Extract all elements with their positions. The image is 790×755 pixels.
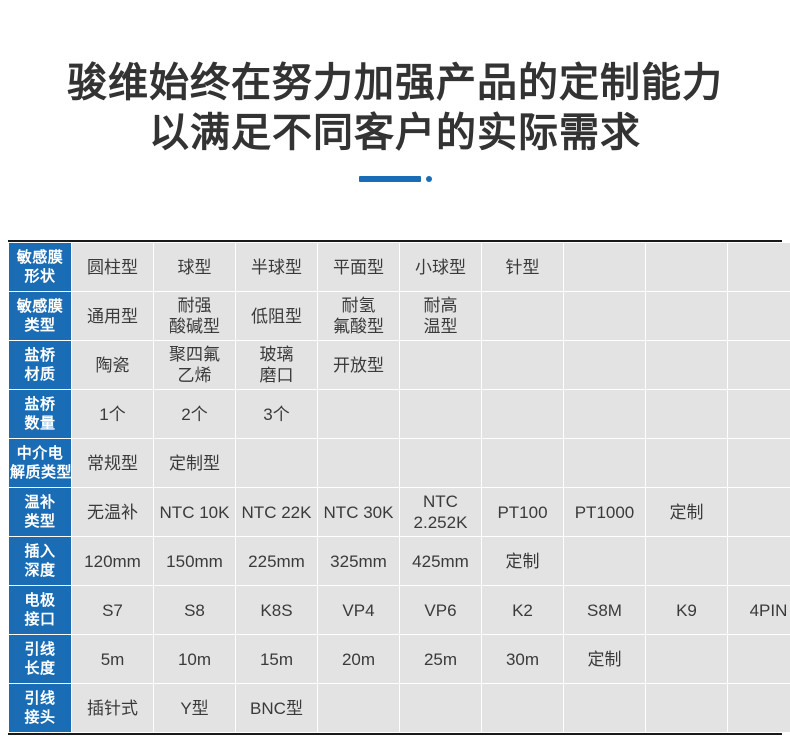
table-cell[interactable]: 常规型 bbox=[72, 439, 153, 487]
table-cell-empty bbox=[564, 439, 645, 487]
table-cell[interactable]: 150mm bbox=[154, 537, 235, 585]
table-cell-empty bbox=[728, 390, 790, 438]
table-cell[interactable]: 球型 bbox=[154, 243, 235, 291]
table-cell-empty bbox=[728, 439, 790, 487]
row-header-4: 中介电解质类型 bbox=[9, 439, 71, 487]
table-cell[interactable]: 20m bbox=[318, 635, 399, 683]
table-cell[interactable]: 425mm bbox=[400, 537, 481, 585]
table-cell-empty bbox=[728, 488, 790, 536]
table-cell-empty bbox=[646, 635, 727, 683]
row-header-9: 引线接头 bbox=[9, 684, 71, 732]
table-cell-empty bbox=[318, 439, 399, 487]
table-row: 引线接头插针式Y型BNC型 bbox=[9, 684, 790, 732]
table-cell[interactable]: 3个 bbox=[236, 390, 317, 438]
table-cell[interactable]: VP6 bbox=[400, 586, 481, 634]
table-cell-empty bbox=[482, 341, 563, 389]
table-cell[interactable]: 10m bbox=[154, 635, 235, 683]
table-cell-empty bbox=[318, 390, 399, 438]
table-cell[interactable]: 耐高温型 bbox=[400, 292, 481, 340]
table-cell[interactable]: 30m bbox=[482, 635, 563, 683]
table-cell[interactable]: PT1000 bbox=[564, 488, 645, 536]
heading-block: 骏维始终在努力加强产品的定制能力 以满足不同客户的实际需求 bbox=[0, 0, 790, 184]
table-cell[interactable]: 120mm bbox=[72, 537, 153, 585]
table-cell[interactable]: 定制 bbox=[482, 537, 563, 585]
table-cell[interactable]: VP4 bbox=[318, 586, 399, 634]
table-cell-empty bbox=[400, 439, 481, 487]
table-row: 敏感膜形状圆柱型球型半球型平面型小球型针型 bbox=[9, 243, 790, 291]
table-cell[interactable]: 聚四氟乙烯 bbox=[154, 341, 235, 389]
table-cell-empty bbox=[482, 684, 563, 732]
spec-table-wrapper: 敏感膜形状圆柱型球型半球型平面型小球型针型敏感膜类型通用型耐强酸碱型低阻型耐氢氟… bbox=[8, 240, 782, 735]
table-cell-empty bbox=[400, 684, 481, 732]
table-cell[interactable]: 陶瓷 bbox=[72, 341, 153, 389]
table-cell[interactable]: 1个 bbox=[72, 390, 153, 438]
table-cell[interactable]: 4PIN bbox=[728, 586, 790, 634]
row-header-5: 温补类型 bbox=[9, 488, 71, 536]
table-cell[interactable]: PT100 bbox=[482, 488, 563, 536]
table-cell[interactable]: 插针式 bbox=[72, 684, 153, 732]
table-cell[interactable]: 半球型 bbox=[236, 243, 317, 291]
table-cell[interactable]: K9 bbox=[646, 586, 727, 634]
accent-dot bbox=[426, 176, 432, 182]
table-cell[interactable]: 325mm bbox=[318, 537, 399, 585]
table-cell[interactable]: 定制 bbox=[564, 635, 645, 683]
table-cell-empty bbox=[646, 292, 727, 340]
table-cell[interactable]: 针型 bbox=[482, 243, 563, 291]
row-header-2: 盐桥材质 bbox=[9, 341, 71, 389]
table-row: 敏感膜类型通用型耐强酸碱型低阻型耐氢氟酸型耐高温型 bbox=[9, 292, 790, 340]
table-cell-empty bbox=[646, 537, 727, 585]
table-cell[interactable]: K2 bbox=[482, 586, 563, 634]
row-header-1: 敏感膜类型 bbox=[9, 292, 71, 340]
table-cell[interactable]: K8S bbox=[236, 586, 317, 634]
table-cell[interactable]: S8 bbox=[154, 586, 235, 634]
table-cell-empty bbox=[564, 390, 645, 438]
table-cell-empty bbox=[646, 684, 727, 732]
table-cell-empty bbox=[728, 537, 790, 585]
table-cell[interactable]: 耐强酸碱型 bbox=[154, 292, 235, 340]
table-cell-empty bbox=[318, 684, 399, 732]
table-cell-empty bbox=[564, 684, 645, 732]
table-cell-empty bbox=[728, 635, 790, 683]
table-cell-empty bbox=[482, 292, 563, 340]
row-header-3: 盐桥数量 bbox=[9, 390, 71, 438]
table-cell[interactable]: 低阻型 bbox=[236, 292, 317, 340]
heading-line-2: 以满足不同客户的实际需求 bbox=[0, 108, 790, 158]
table-cell-empty bbox=[646, 243, 727, 291]
table-cell[interactable]: NTC 30K bbox=[318, 488, 399, 536]
table-cell[interactable]: 玻璃磨口 bbox=[236, 341, 317, 389]
table-cell-empty bbox=[482, 439, 563, 487]
table-cell[interactable]: Y型 bbox=[154, 684, 235, 732]
table-row: 盐桥数量1个2个3个 bbox=[9, 390, 790, 438]
table-cell-empty bbox=[728, 341, 790, 389]
table-cell[interactable]: 定制型 bbox=[154, 439, 235, 487]
table-cell[interactable]: S7 bbox=[72, 586, 153, 634]
table-cell-empty bbox=[646, 341, 727, 389]
table-cell-empty bbox=[400, 341, 481, 389]
heading-line-1: 骏维始终在努力加强产品的定制能力 bbox=[0, 58, 790, 108]
table-cell-empty bbox=[728, 292, 790, 340]
table-cell[interactable]: NTC 10K bbox=[154, 488, 235, 536]
table-cell[interactable]: 225mm bbox=[236, 537, 317, 585]
table-row: 中介电解质类型常规型定制型 bbox=[9, 439, 790, 487]
table-cell[interactable]: 平面型 bbox=[318, 243, 399, 291]
row-header-8: 引线长度 bbox=[9, 635, 71, 683]
table-cell-empty bbox=[646, 390, 727, 438]
table-cell[interactable]: S8M bbox=[564, 586, 645, 634]
table-cell[interactable]: 定制 bbox=[646, 488, 727, 536]
row-header-0: 敏感膜形状 bbox=[9, 243, 71, 291]
table-cell[interactable]: 25m bbox=[400, 635, 481, 683]
spec-table-body: 敏感膜形状圆柱型球型半球型平面型小球型针型敏感膜类型通用型耐强酸碱型低阻型耐氢氟… bbox=[9, 243, 790, 732]
row-header-7: 电极接口 bbox=[9, 586, 71, 634]
table-cell-empty bbox=[564, 341, 645, 389]
table-cell-empty bbox=[400, 390, 481, 438]
heading-accent bbox=[0, 174, 790, 184]
spec-table: 敏感膜形状圆柱型球型半球型平面型小球型针型敏感膜类型通用型耐强酸碱型低阻型耐氢氟… bbox=[8, 242, 790, 733]
table-row: 盐桥材质陶瓷聚四氟乙烯玻璃磨口开放型 bbox=[9, 341, 790, 389]
table-cell[interactable]: 通用型 bbox=[72, 292, 153, 340]
table-cell[interactable]: 开放型 bbox=[318, 341, 399, 389]
table-cell-empty bbox=[564, 537, 645, 585]
table-cell[interactable]: 耐氢氟酸型 bbox=[318, 292, 399, 340]
table-cell[interactable]: 5m bbox=[72, 635, 153, 683]
table-row: 温补类型无温补NTC 10KNTC 22KNTC 30KNTC2.252KPT1… bbox=[9, 488, 790, 536]
table-cell[interactable]: BNC型 bbox=[236, 684, 317, 732]
row-header-6: 插入深度 bbox=[9, 537, 71, 585]
table-row: 引线长度5m10m15m20m25m30m定制 bbox=[9, 635, 790, 683]
table-cell[interactable]: 小球型 bbox=[400, 243, 481, 291]
table-row: 插入深度120mm150mm225mm325mm425mm定制 bbox=[9, 537, 790, 585]
table-cell[interactable]: NTC 22K bbox=[236, 488, 317, 536]
page-root: 骏维始终在努力加强产品的定制能力 以满足不同客户的实际需求 敏感膜形状圆柱型球型… bbox=[0, 0, 790, 755]
table-cell[interactable]: 无温补 bbox=[72, 488, 153, 536]
table-cell[interactable]: 圆柱型 bbox=[72, 243, 153, 291]
table-cell-empty bbox=[564, 292, 645, 340]
table-cell-empty bbox=[728, 684, 790, 732]
table-cell-empty bbox=[728, 243, 790, 291]
table-cell[interactable]: NTC2.252K bbox=[400, 488, 481, 536]
accent-bar bbox=[359, 176, 421, 182]
table-cell-empty bbox=[564, 243, 645, 291]
table-cell-empty bbox=[236, 439, 317, 487]
table-cell-empty bbox=[646, 439, 727, 487]
table-cell[interactable]: 15m bbox=[236, 635, 317, 683]
table-cell-empty bbox=[482, 390, 563, 438]
table-cell[interactable]: 2个 bbox=[154, 390, 235, 438]
table-row: 电极接口S7S8K8SVP4VP6K2S8MK94PIN bbox=[9, 586, 790, 634]
